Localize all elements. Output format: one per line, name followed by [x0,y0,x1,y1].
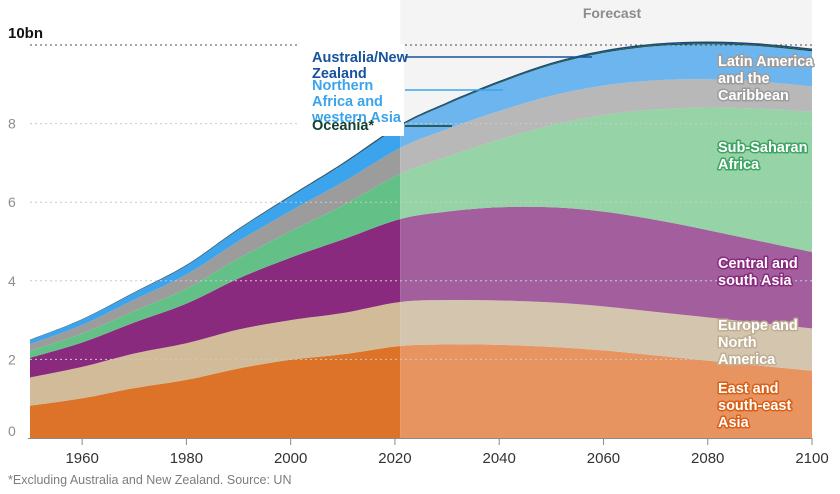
population-stacked-area-chart: 1960198020002020204020602080210010bn8642… [0,0,840,494]
forecast-label: Forecast [583,5,642,21]
y-tick-label-8: 8 [8,116,16,132]
y-tick-label-6: 6 [8,194,16,210]
x-axis: 19601980200020202040206020802100 [65,438,828,467]
x-tick-label-2040: 2040 [483,450,516,467]
y-tick-label-4: 4 [8,273,16,289]
y-tick-label-0: 0 [8,423,16,439]
x-tick-label-1960: 1960 [65,450,98,467]
x-tick-label-2080: 2080 [691,450,724,467]
y-tick-label-2: 2 [8,351,16,367]
x-tick-label-2000: 2000 [274,450,307,467]
x-tick-label-1980: 1980 [170,450,203,467]
x-tick-label-2060: 2060 [587,450,620,467]
area-label-central-and-south-asia: Central andsouth Asia [718,256,798,289]
y-tick-label-10: 10bn [8,25,43,42]
x-tick-label-2020: 2020 [378,450,411,467]
y-axis-mask [0,0,30,494]
chart-root: 1960198020002020204020602080210010bn8642… [0,0,840,494]
x-tick-label-2100: 2100 [795,450,828,467]
legend-label-oceania: Oceania* [312,118,374,134]
chart-footnote: *Excluding Australia and New Zealand. So… [8,473,291,487]
